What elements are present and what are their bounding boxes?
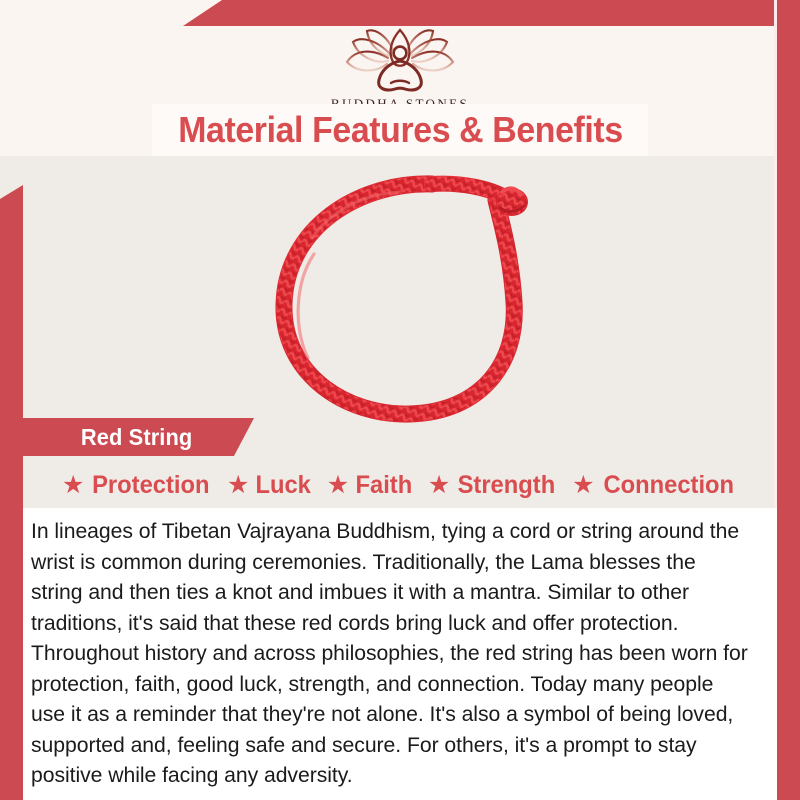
star-icon: ★	[227, 473, 249, 498]
benefits-row: ★ Protection ★ Luck ★ Faith ★ Strength ★…	[22, 466, 777, 504]
decorative-ribbon-right	[777, 0, 800, 800]
benefit-item: ★ Connection	[572, 471, 737, 500]
benefit-label: Protection	[92, 471, 209, 500]
benefit-item: ★ Faith	[327, 471, 414, 500]
infographic-poster: BUDDHA STONES Material Features & Benefi…	[0, 0, 800, 800]
description-text: In lineages of Tibetan Vajrayana Buddhis…	[31, 516, 752, 791]
star-icon: ★	[62, 473, 84, 498]
headline-banner: Material Features & Benefits	[152, 104, 648, 156]
section-tag-label: Red String	[81, 424, 192, 451]
lotus-meditation-icon	[325, 22, 475, 94]
red-string-bracelet-image	[250, 162, 570, 427]
brand-logo: BUDDHA STONES	[0, 22, 800, 112]
benefit-label: Luck	[256, 471, 311, 500]
section-tag-red-string: Red String	[22, 418, 254, 456]
benefit-label: Connection	[603, 471, 734, 500]
benefit-item: ★ Strength	[428, 471, 558, 500]
star-icon: ★	[572, 473, 594, 498]
star-icon: ★	[428, 473, 450, 498]
benefit-item: ★ Protection	[62, 471, 213, 500]
page-title: Material Features & Benefits	[178, 109, 623, 151]
benefit-item: ★ Luck	[227, 471, 313, 500]
description-panel: In lineages of Tibetan Vajrayana Buddhis…	[23, 508, 777, 800]
benefit-label: Faith	[356, 471, 413, 500]
decorative-ribbon-left	[0, 185, 23, 800]
star-icon: ★	[327, 473, 349, 498]
benefit-label: Strength	[458, 471, 556, 500]
